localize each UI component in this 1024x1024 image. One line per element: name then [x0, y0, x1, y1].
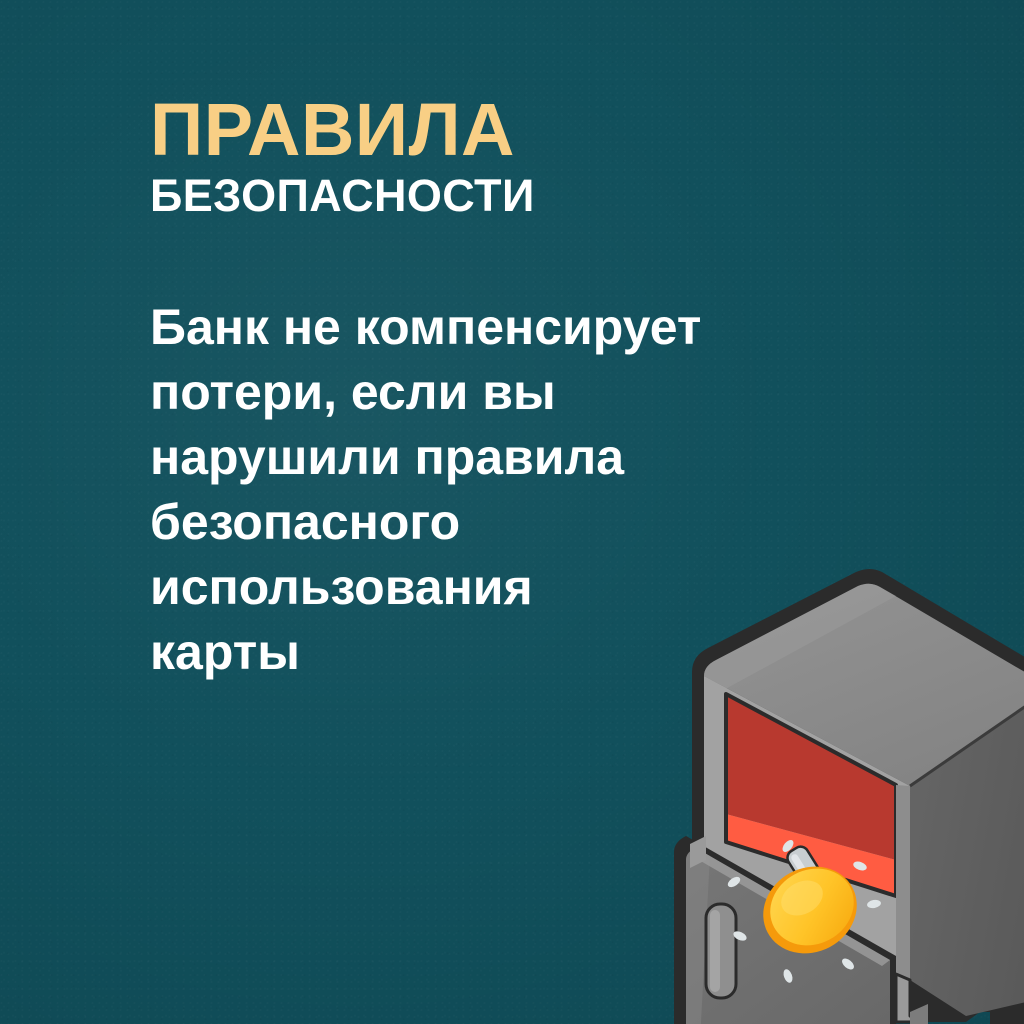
title-primary: ПРАВИЛА	[150, 96, 910, 164]
safe-frame-inner-shade	[896, 785, 910, 980]
body-line: нарушили правила	[150, 425, 810, 490]
body-line: безопасного	[150, 490, 810, 555]
safe-illustration	[660, 560, 1024, 1024]
door-handle[interactable]	[706, 904, 736, 998]
heading-block: ПРАВИЛА БЕЗОПАСНОСТИ	[150, 96, 910, 219]
body-line: потери, если вы	[150, 360, 810, 425]
body-line: Банк не компенсирует	[150, 295, 810, 360]
poster-canvas: ПРАВИЛА БЕЗОПАСНОСТИ Банк не компенсируе…	[0, 0, 1024, 1024]
title-secondary: БЕЗОПАСНОСТИ	[150, 172, 910, 219]
open-safe-icon	[660, 560, 1024, 1024]
